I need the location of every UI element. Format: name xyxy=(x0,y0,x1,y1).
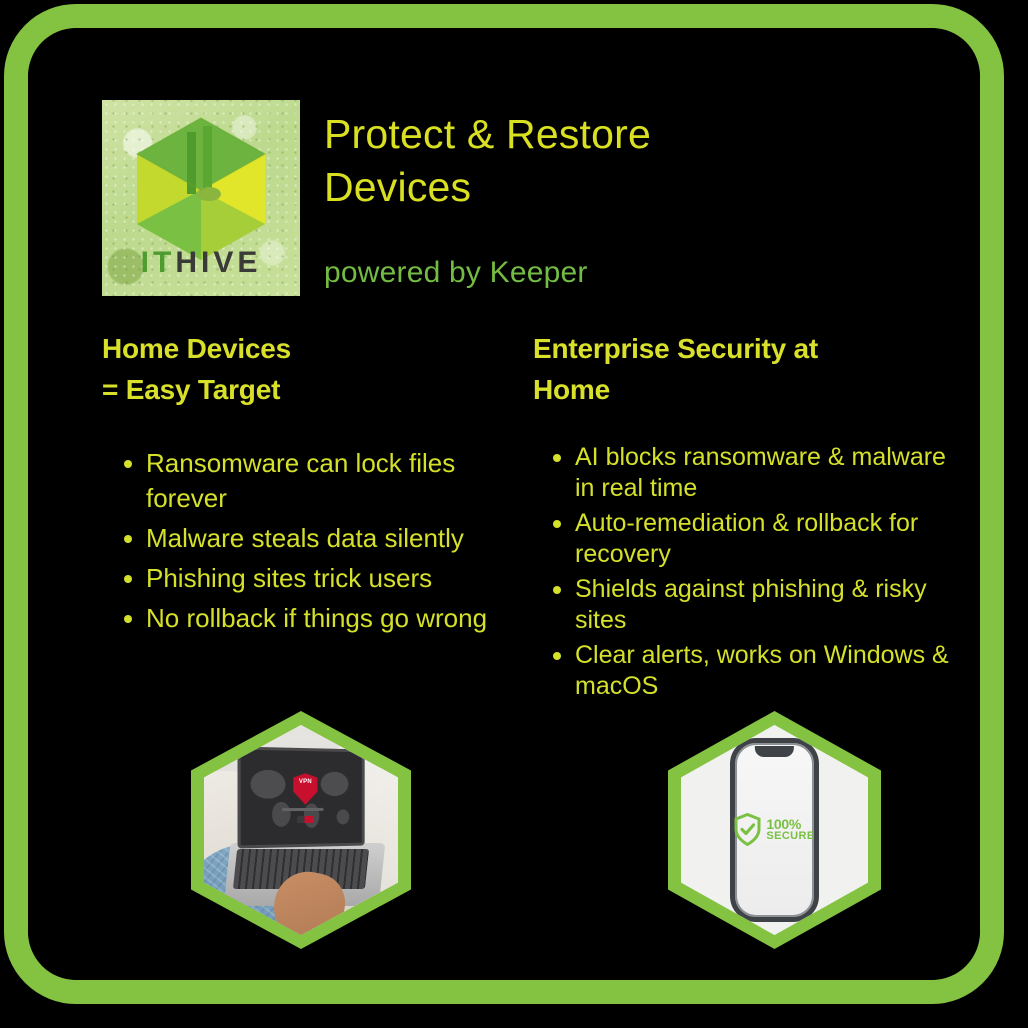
list-item: AI blocks ransomware & malware in real t… xyxy=(533,442,953,504)
list-item: Shields against phishing & risky sites xyxy=(533,574,953,636)
heading-left-line-2: = Easy Target xyxy=(102,369,512,410)
list-item: Phishing sites trick users xyxy=(102,561,512,596)
logo-word-it: IT xyxy=(141,246,176,279)
bullet-dot-icon xyxy=(124,575,132,583)
bullet-dot-icon xyxy=(124,535,132,543)
bullet-text: No rollback if things go wrong xyxy=(146,603,487,633)
bullet-dot-icon xyxy=(553,454,561,462)
phone-screen-content: 100% SECURE xyxy=(735,813,815,846)
poster-canvas: ITHIVE Protect & Restore Devices powered… xyxy=(0,0,1028,1028)
laptop-vpn-photo: VPN xyxy=(191,711,411,949)
bullet-dot-icon xyxy=(553,586,561,594)
list-item: Ransomware can lock files forever xyxy=(102,446,512,516)
badge-percent: 100% xyxy=(766,817,814,831)
hexagon-cube-icon xyxy=(130,114,272,262)
heading-right-line-2: Home xyxy=(533,369,953,410)
list-item: Auto-remediation & rollback for recovery xyxy=(533,508,953,570)
header-text-block: Protect & Restore Devices powered by Kee… xyxy=(324,100,651,290)
column-heading-left: Home Devices = Easy Target xyxy=(102,328,512,410)
screen-flag-icon xyxy=(297,816,314,824)
list-item: No rollback if things go wrong xyxy=(102,601,512,636)
bullet-text: Malware steals data silently xyxy=(146,523,464,553)
list-item: Malware steals data silently xyxy=(102,521,512,556)
bullet-dot-icon xyxy=(553,652,561,660)
header: ITHIVE Protect & Restore Devices powered… xyxy=(102,100,922,300)
logo-word-hive: HIVE xyxy=(175,246,261,279)
title-line-1: Protect & Restore xyxy=(324,108,651,161)
laptop-screen: VPN xyxy=(237,747,364,849)
logo-wordmark: ITHIVE xyxy=(102,246,300,280)
bullet-text: Shields against phishing & risky sites xyxy=(575,575,927,634)
smartphone-secure-photo: 100% SECURE xyxy=(668,711,881,949)
bullet-text: Phishing sites trick users xyxy=(146,563,432,593)
ithive-logo: ITHIVE xyxy=(102,100,300,296)
powered-by-label: powered by Keeper xyxy=(324,256,651,290)
phone-notch xyxy=(755,746,793,757)
bullet-list-left: Ransomware can lock files forever Malwar… xyxy=(102,446,512,636)
bullet-text: Clear alerts, works on Windows & macOS xyxy=(575,641,949,700)
bullet-dot-icon xyxy=(124,615,132,623)
bullet-text: Ransomware can lock files forever xyxy=(146,448,455,513)
secure-badge-text: 100% SECURE xyxy=(766,817,814,842)
heading-right-line-1: Enterprise Security at xyxy=(533,328,953,369)
list-item: Clear alerts, works on Windows & macOS xyxy=(533,640,953,702)
heading-left-line-1: Home Devices xyxy=(102,328,512,369)
column-heading-right: Enterprise Security at Home xyxy=(533,328,953,410)
bullet-dot-icon xyxy=(124,460,132,468)
phone-body: 100% SECURE xyxy=(730,738,820,923)
bullet-list-right: AI blocks ransomware & malware in real t… xyxy=(533,442,953,702)
bullet-text: AI blocks ransomware & malware in real t… xyxy=(575,443,946,502)
shield-check-icon xyxy=(734,813,761,846)
column-home-devices: Home Devices = Easy Target Ransomware ca… xyxy=(102,328,512,641)
bullet-text: Auto-remediation & rollback for recovery xyxy=(575,509,918,568)
bullet-dot-icon xyxy=(553,520,561,528)
column-enterprise-security: Enterprise Security at Home AI blocks ra… xyxy=(533,328,953,706)
badge-label: SECURE xyxy=(766,831,814,842)
page-title: Protect & Restore Devices xyxy=(324,108,651,214)
title-line-2: Devices xyxy=(324,161,651,214)
poster-content: ITHIVE Protect & Restore Devices powered… xyxy=(28,28,980,980)
